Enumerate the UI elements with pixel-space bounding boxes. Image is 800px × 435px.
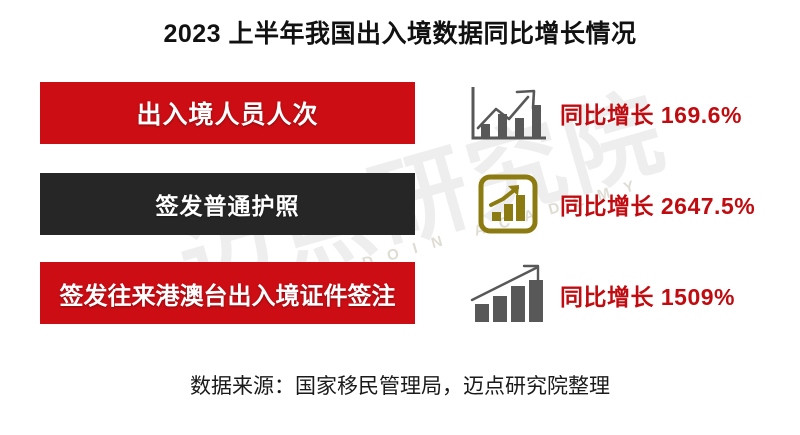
growth-value: 同比增长 2647.5%	[560, 173, 755, 235]
category-label: 签发往来港澳台出入境证件签注	[60, 276, 396, 311]
category-bar-ordinary-passport: 签发普通护照	[40, 173, 415, 235]
data-row: 签发往来港澳台出入境证件签注 同比增长 1509%	[0, 262, 800, 328]
growth-value: 同比增长 1509%	[560, 264, 735, 326]
data-row: 签发普通护照 同比增长 2647.5%	[0, 173, 800, 239]
category-bar-entry-exit-persons: 出入境人员人次	[40, 82, 415, 144]
bar-chart-rising-arrow-outline-icon	[462, 82, 554, 144]
category-bar-hk-macao-taiwan-endorsements: 签发往来港澳台出入境证件签注	[40, 262, 415, 324]
data-source-note: 数据来源：国家移民管理局，迈点研究院整理	[0, 370, 800, 400]
category-label: 签发普通护照	[156, 187, 300, 221]
category-label: 出入境人员人次	[136, 95, 318, 131]
growth-value: 同比增长 169.6%	[560, 82, 742, 144]
page-title: 2023 上半年我国出入境数据同比增长情况	[0, 14, 800, 50]
bar-chart-framed-gold-icon	[462, 173, 554, 235]
bar-chart-diagonal-arrow-icon	[462, 262, 554, 324]
data-row: 出入境人员人次 同比增长 169.6%	[0, 82, 800, 148]
